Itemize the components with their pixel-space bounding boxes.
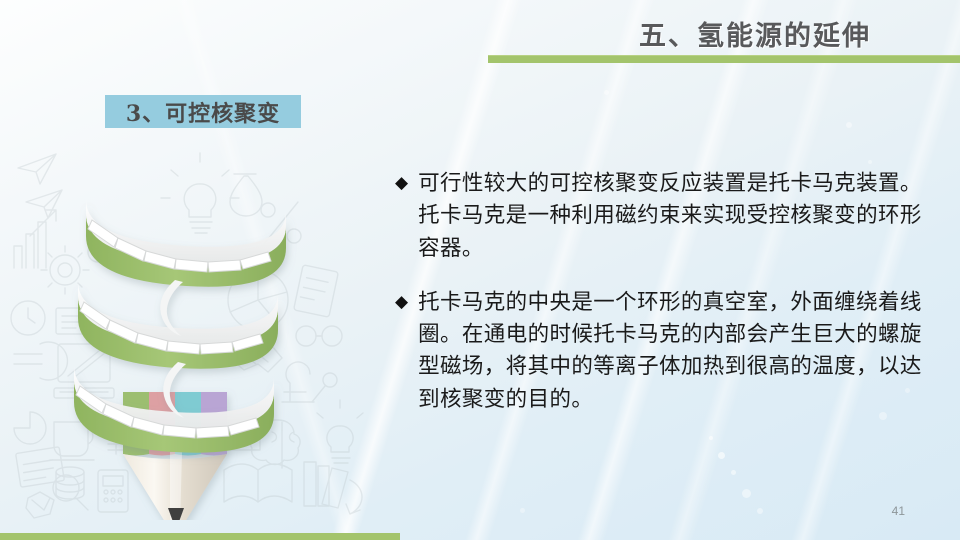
bokeh-dot [604, 90, 609, 95]
bullet-text: 可行性较大的可控核聚变反应装置是托卡马克装置。托卡马克是一种利用磁约束来实现受控… [418, 168, 935, 265]
subtitle-label: 3、可控核聚变 [105, 95, 301, 128]
spiral-stairs-graphic [74, 200, 286, 453]
bullet-text: 托卡马克的中央是一个环形的真空室，外面缠绕着线圈。在通电的时候托卡马克的内部会产… [418, 287, 935, 416]
pencil-staircase-illustration [10, 140, 390, 520]
spiral-staircase-graphic [10, 140, 390, 520]
bullet-item: ◆ 可行性较大的可控核聚变反应装置是托卡马克装置。托卡马克是一种利用磁约束来实现… [395, 168, 935, 265]
bullet-item: ◆ 托卡马克的中央是一个环形的真空室，外面缠绕着线圈。在通电的时候托卡马克的内部… [395, 287, 935, 416]
bokeh-dot [742, 489, 751, 498]
bokeh-dot [757, 508, 763, 514]
page-title: 五、氢能源的延伸 [560, 14, 950, 53]
title-underline-bar [488, 55, 960, 63]
bokeh-dot [731, 470, 736, 475]
bokeh-dot [718, 452, 725, 459]
slide-canvas: 五、氢能源的延伸 3、可控核聚变 ◆ 可行性较大的可控核聚变反应装置是托卡马克装… [0, 0, 960, 540]
page-number: 41 [892, 504, 905, 518]
bokeh-dot [520, 508, 525, 513]
bokeh-dot [868, 160, 872, 164]
footer-accent-bar [0, 533, 400, 540]
body-content: ◆ 可行性较大的可控核聚变反应装置是托卡马克装置。托卡马克是一种利用磁约束来实现… [395, 168, 935, 438]
diamond-bullet-icon: ◆ [395, 288, 408, 316]
bokeh-dot [846, 122, 852, 128]
diamond-bullet-icon: ◆ [395, 169, 408, 197]
